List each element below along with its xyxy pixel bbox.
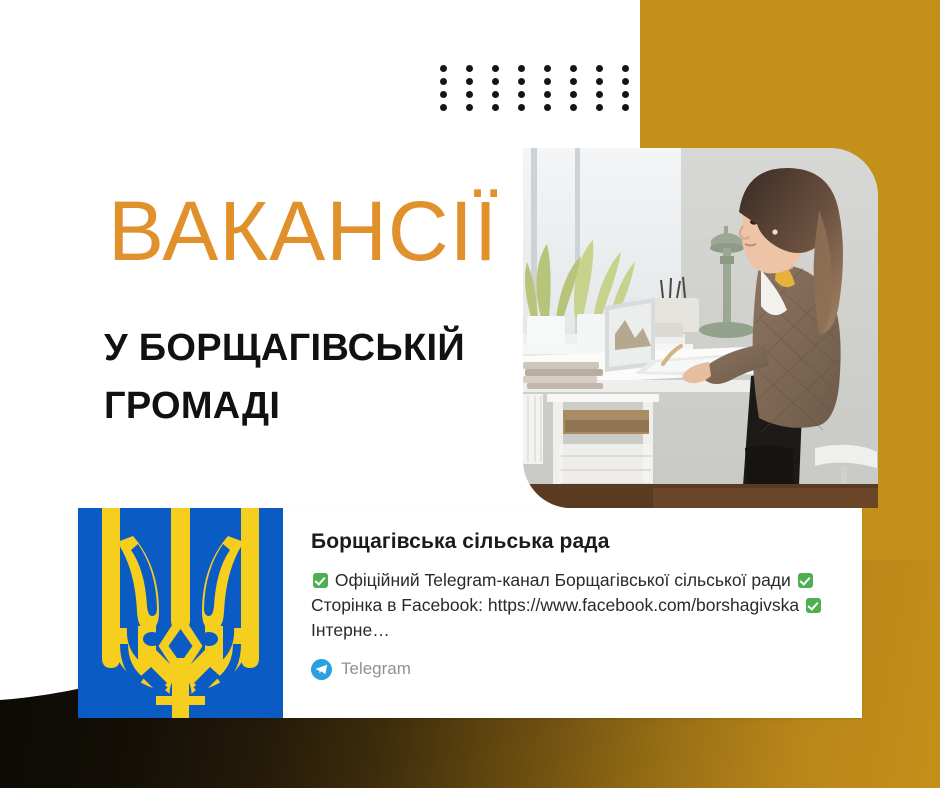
- dot: [622, 78, 629, 85]
- desc-text-5: Інтерне…: [311, 620, 390, 640]
- dot: [544, 78, 551, 85]
- dot: [596, 78, 603, 85]
- desc-text-3: Сторінка в Facebook: https://www.faceboo…: [311, 595, 804, 615]
- dot: [570, 65, 577, 72]
- dot: [440, 91, 447, 98]
- telegram-channel-title: Борщагівська сільська рада: [311, 530, 838, 554]
- dot: [440, 65, 447, 72]
- check-mark-icon: [313, 573, 328, 588]
- dot: [596, 91, 603, 98]
- check-mark-icon: [806, 598, 821, 613]
- dot: [492, 78, 499, 85]
- telegram-card-body: Борщагівська сільська рада Офіційний Tel…: [283, 508, 862, 718]
- dot: [622, 65, 629, 72]
- dot: [466, 91, 473, 98]
- poster-canvas: ВАКАНСІЇ У БОРЩАГІВСЬКІЙ ГРОМАДІ: [0, 0, 940, 788]
- dot: [440, 104, 447, 111]
- dot: [466, 104, 473, 111]
- dot: [518, 65, 525, 72]
- dot: [570, 78, 577, 85]
- telegram-channel-description: Офіційний Telegram-канал Борщагівської с…: [311, 568, 838, 643]
- ukraine-coat-of-arms-icon: [78, 508, 283, 718]
- telegram-source-label: Telegram: [341, 659, 411, 679]
- dot: [622, 104, 629, 111]
- dot: [544, 91, 551, 98]
- dot: [596, 104, 603, 111]
- dot: [440, 78, 447, 85]
- desc-text-1: Офіційний Telegram-канал Борщагівської с…: [330, 570, 796, 590]
- poster-title: ВАКАНСІЇ: [108, 189, 498, 273]
- dot: [544, 104, 551, 111]
- dot: [596, 65, 603, 72]
- tryzub-illustration: [78, 508, 283, 718]
- dot-grid-decoration: [440, 65, 648, 117]
- telegram-icon: [311, 659, 332, 680]
- poster-subtitle: У БОРЩАГІВСЬКІЙ ГРОМАДІ: [104, 320, 534, 436]
- telegram-source[interactable]: Telegram: [311, 659, 838, 680]
- office-photo-illustration: [523, 148, 878, 508]
- office-photo: [523, 148, 878, 508]
- dot: [518, 91, 525, 98]
- dot: [622, 91, 629, 98]
- dot: [466, 78, 473, 85]
- telegram-link-card[interactable]: Борщагівська сільська рада Офіційний Tel…: [78, 508, 862, 718]
- check-mark-icon: [798, 573, 813, 588]
- dot: [492, 104, 499, 111]
- paper-plane-glyph: [315, 664, 328, 675]
- dot: [466, 65, 473, 72]
- dot: [492, 65, 499, 72]
- dot: [518, 78, 525, 85]
- dot: [570, 104, 577, 111]
- dot: [544, 65, 551, 72]
- dot: [570, 91, 577, 98]
- dot: [492, 91, 499, 98]
- dot: [518, 104, 525, 111]
